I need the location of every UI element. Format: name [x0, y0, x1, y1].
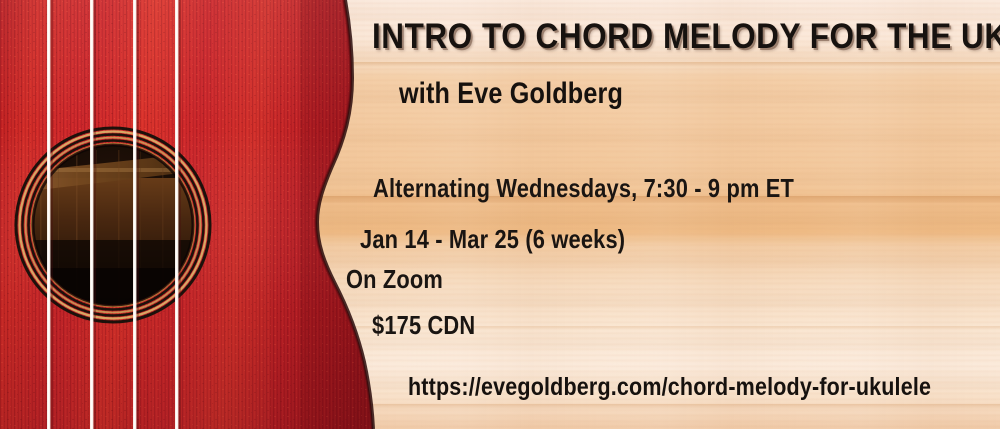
- schedule-line: Alternating Wednesdays, 7:30 - 9 pm ET: [373, 173, 794, 204]
- ukulele-photo: [0, 0, 400, 429]
- platform-line: On Zoom: [346, 264, 443, 295]
- registration-url[interactable]: https://evegoldberg.com/chord-melody-for…: [408, 373, 931, 402]
- sound-hole: [16, 128, 212, 322]
- course-promo-poster: INTRO TO CHORD MELODY FOR THE UKULELE wi…: [0, 0, 1000, 429]
- presenter-name: with Eve Goldberg: [399, 77, 623, 111]
- page-title: INTRO TO CHORD MELODY FOR THE UKULELE: [372, 17, 1000, 57]
- price-line: $175 CDN: [372, 310, 475, 341]
- dates-line: Jan 14 - Mar 25 (6 weeks): [360, 224, 625, 255]
